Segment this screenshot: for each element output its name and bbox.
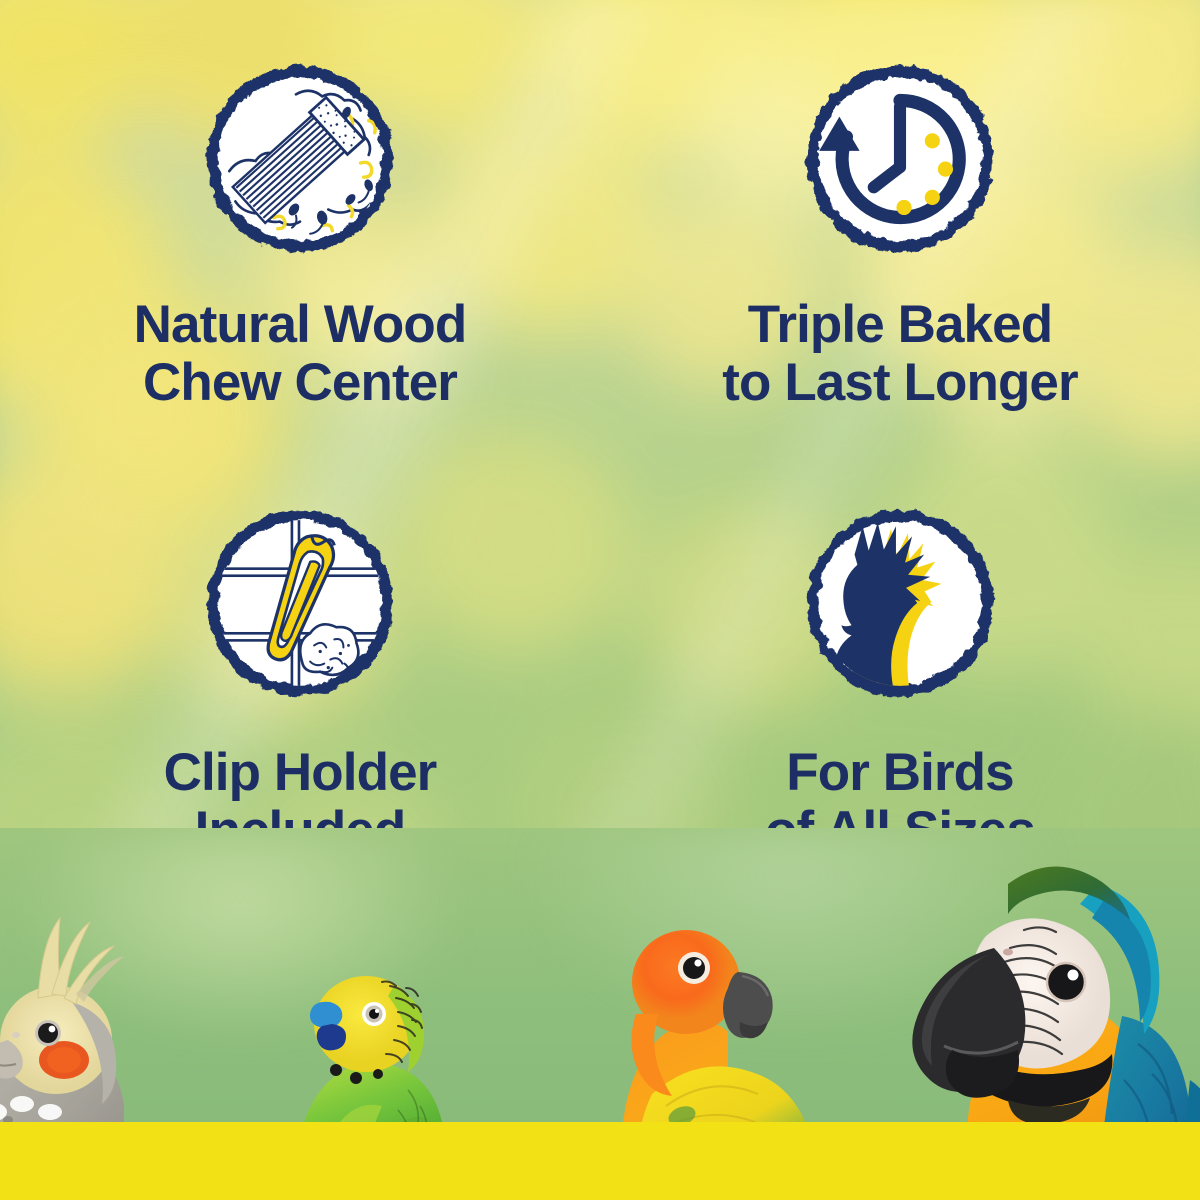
bird-photo-strip [0, 828, 1200, 1200]
feature-triple-baked: Triple Baked to Last Longer [600, 0, 1200, 440]
feature-title: Natural Wood Chew Center [134, 296, 467, 413]
cockatoo-silhouette-icon [799, 502, 1001, 704]
clock-refresh-icon [799, 58, 1001, 260]
feature-panel: Natural Wood Chew Center [0, 0, 1200, 1200]
feature-title: Triple Baked to Last Longer [722, 296, 1077, 413]
wood-chew-stick-icon [199, 58, 401, 260]
feature-grid: Natural Wood Chew Center [0, 0, 1200, 880]
feature-for-all-sizes: For Birds of All Sizes [600, 440, 1200, 880]
feature-clip-holder: Clip Holder Included [0, 440, 600, 880]
cage-clip-icon [199, 502, 401, 704]
feature-natural-wood-chew-center: Natural Wood Chew Center [0, 0, 600, 440]
yellow-accent-band [0, 1122, 1200, 1200]
